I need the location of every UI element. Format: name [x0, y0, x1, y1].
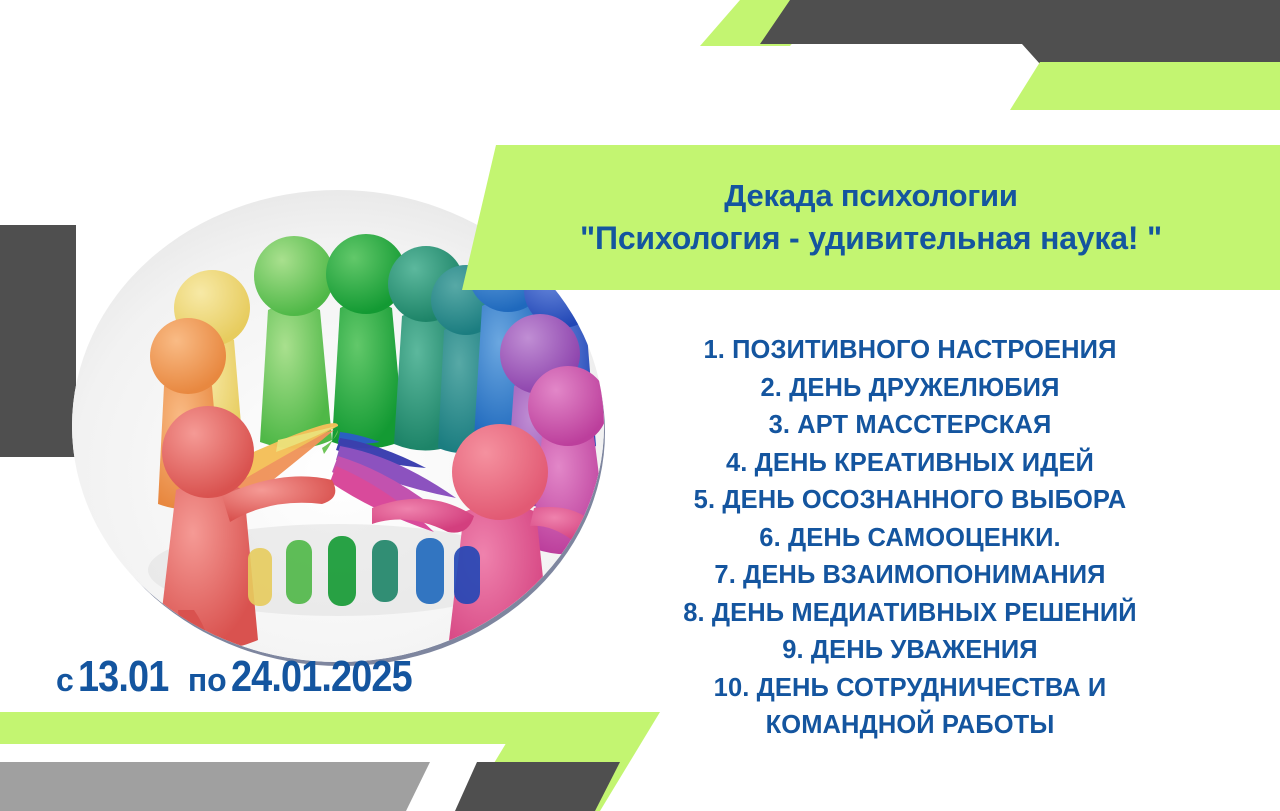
decor-bottom-light-gray-slab — [0, 762, 430, 811]
list-item: 1. ПОЗИТИВНОГО НАСТРОЕНИЯ — [620, 332, 1200, 370]
list-item: 7. ДЕНЬ ВЗАИМОПОНИМАНИЯ — [620, 557, 1200, 595]
decor-bottom-green-band — [0, 712, 660, 744]
decor-top-gray-shape — [760, 0, 1280, 64]
title-line-2: "Психология - удивительная наука! " — [580, 217, 1162, 260]
list-item: 4. ДЕНЬ КРЕАТИВНЫХ ИДЕЙ — [620, 445, 1200, 483]
list-item: 3. АРТ МАССТЕРСКАЯ — [620, 407, 1200, 445]
list-item: КОМАНДНОЙ РАБОТЫ — [620, 707, 1200, 745]
list-item: 10. ДЕНЬ СОТРУДНИЧЕСТВА И — [620, 670, 1200, 708]
decor-top-green-right-shape — [1010, 62, 1280, 110]
list-item: 6. ДЕНЬ САМООЦЕНКИ. — [620, 520, 1200, 558]
list-item: 9. ДЕНЬ УВАЖЕНИЯ — [620, 632, 1200, 670]
list-item: 2. ДЕНЬ ДРУЖЕЛЮБИЯ — [620, 370, 1200, 408]
date-to-word: по — [188, 662, 227, 698]
list-item: 8. ДЕНЬ МЕДИАТИВНЫХ РЕШЕНИЙ — [620, 595, 1200, 633]
event-list: 1. ПОЗИТИВНОГО НАСТРОЕНИЯ 2. ДЕНЬ ДРУЖЕЛ… — [620, 332, 1200, 745]
date-from-word: с — [56, 662, 74, 698]
date-range: с 13.01 по 24.01.2025 — [56, 652, 441, 702]
date-to-value: 24.01.2025 — [231, 652, 412, 702]
decor-left-gray-block — [0, 225, 76, 457]
list-item: 5. ДЕНЬ ОСОЗНАННОГО ВЫБОРА — [620, 482, 1200, 520]
date-from-value: 13.01 — [78, 652, 168, 702]
decor-top-green-left-shape — [700, 0, 830, 46]
decor-bottom-dark-gray-wedge — [455, 762, 620, 811]
poster-canvas: Декада психологии "Психология - удивител… — [0, 0, 1280, 811]
title-banner: Декада психологии "Психология - удивител… — [462, 145, 1280, 290]
title-line-1: Декада психологии — [724, 175, 1018, 217]
